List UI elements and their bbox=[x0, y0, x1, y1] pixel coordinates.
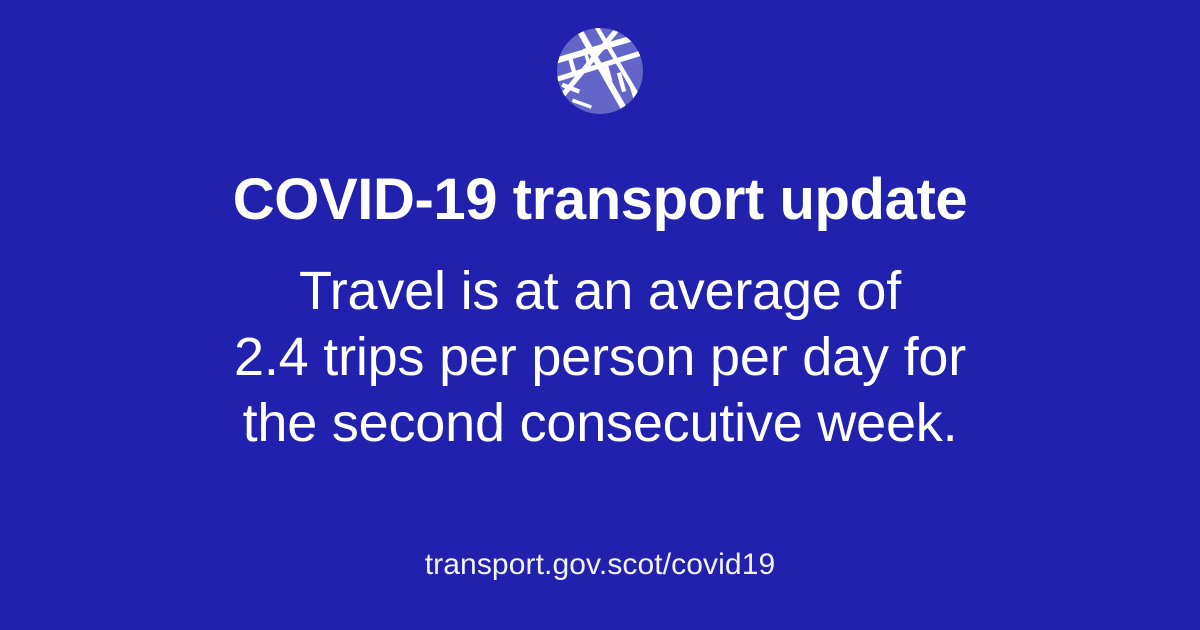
update-message-line: 2.4 trips per person per day for bbox=[0, 324, 1200, 390]
page-title: COVID-19 transport update bbox=[0, 168, 1200, 232]
transport-scotland-roundel-icon bbox=[557, 28, 643, 114]
update-message-line: the second consecutive week. bbox=[0, 390, 1200, 456]
footer-url-link[interactable]: transport.gov.scot/covid19 bbox=[0, 548, 1200, 582]
covid-transport-update-card: COVID-19 transport update Travel is at a… bbox=[0, 0, 1200, 630]
update-message-line: Travel is at an average of bbox=[0, 258, 1200, 324]
update-message: Travel is at an average of 2.4 trips per… bbox=[0, 258, 1200, 456]
